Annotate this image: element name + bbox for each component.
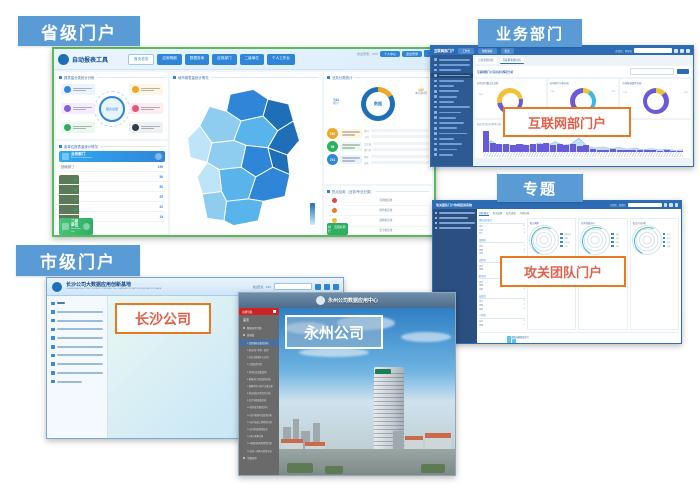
title-rule [97, 77, 165, 78]
sidebar-item-home[interactable] [49, 299, 105, 308]
province-user-center-button[interactable]: 个人中心 [380, 51, 400, 57]
sidebar-item-home[interactable]: 首页 [239, 315, 279, 324]
sidebar-menu-item[interactable]: 2.低压用户停电 - 监测 [239, 346, 279, 353]
hex-ring-graphic: 报表总量 [59, 82, 165, 136]
topic-brand: 攻关团队门户协同应用系统 [436, 203, 472, 207]
card-title: 访问终端类型分析 [622, 81, 689, 85]
province-header: 自动报表工具 首页总览 应用明细 数据查询 应用部门 二级单位 个人工作台 欢迎… [54, 49, 434, 70]
card-units-title-text: 各单位报表量统计情况 [64, 144, 98, 149]
chip-icon [132, 105, 139, 112]
donut-right-caption: 本月新增 [415, 91, 427, 95]
legend-item: 运检 [611, 237, 624, 240]
chip-icon [132, 86, 139, 93]
card-title: 访问用户分布分析 [550, 81, 617, 85]
callout-changsha-company: 长沙公司 [115, 303, 211, 334]
biz-donut-chart: 741 累计 数据 180 本月新增 [327, 82, 429, 126]
card-overview-title-text: 报表量分类统计分析 [64, 75, 95, 80]
callout-label: 攻关团队门户 [524, 262, 602, 281]
biz-col: 应用名称 [332, 223, 348, 235]
card-map-title-text: 地市报表量统计情况 [178, 75, 209, 80]
sidebar-menu-item[interactable]: 15.电费回收风险预警分析 [239, 440, 279, 447]
gear-icon[interactable] [680, 49, 684, 53]
list-item: 成果4 [479, 288, 525, 292]
province-middle-column: 地市报表量统计情况 [170, 72, 322, 234]
legend: 数据分析 建模 可视化 业务 [560, 233, 573, 248]
bar-label: 进行中 [364, 148, 371, 152]
stat-bar: 本月 [364, 129, 429, 133]
legend-item: 稽查 [663, 241, 676, 244]
province-greeting: 欢迎登录，XXX [357, 52, 378, 56]
chart-title: 各应用月度访问趋势分析 [477, 122, 501, 126]
province-nav-item[interactable]: 应用部门 [212, 54, 236, 65]
business-tabs[interactable]: 日常监测分析 互联网专题分析 [475, 57, 691, 64]
row-label: 营销部门 [61, 164, 74, 169]
hunan-map-svg [173, 82, 319, 233]
province-nav-item[interactable]: 个人工作台 [267, 54, 295, 65]
sidebar-item[interactable] [435, 212, 475, 214]
sidebar-banner: 功能导航 [239, 308, 279, 315]
section-tag-city: 市级门户 [16, 245, 140, 276]
collapse-icon[interactable] [273, 310, 277, 314]
sidebar-item-talent-org[interactable] [49, 342, 105, 351]
stat-row: 741 本年 去年 [327, 154, 429, 165]
sidebar-item-data-sharing[interactable] [49, 351, 105, 360]
donut-left-label: 741 累计 [333, 98, 339, 106]
search-icon[interactable] [315, 284, 321, 290]
changsha-subtitle: CHANGSHA ELECTRIC POWER COMPANY BIG DATA… [66, 288, 161, 290]
sidebar-item[interactable] [431, 152, 473, 157]
group-title: 安监组 [479, 294, 525, 300]
gear-icon[interactable] [669, 203, 673, 207]
radar-chart [633, 226, 661, 254]
row-value: 63 [74, 178, 78, 182]
business-header-right[interactable]: 欢迎您，管理员 [615, 48, 690, 53]
province-title: 自动报表工具 [72, 55, 108, 64]
legend-item: 业务 [560, 245, 573, 248]
sidebar-item-lab-intro[interactable] [49, 316, 105, 325]
tower-sign [375, 369, 391, 374]
header-text: 二级单位 Secondary unit [71, 220, 81, 233]
legend: 线损 停电 稽查 预警 [663, 233, 676, 248]
section-tag-province-label: 省级门户 [41, 19, 117, 44]
stat-tag [340, 129, 362, 137]
user-icon[interactable] [686, 49, 690, 53]
sidebar-menu-item[interactable]: 14.用户画像分析 [239, 433, 279, 440]
card-biz-apps: 热点应用（业务/专业分类） 排行 应用名称 营销类应用 财务类应用 运检类应用 … [324, 186, 432, 234]
donut-ring: 数据 [361, 87, 395, 121]
title-rule [376, 191, 429, 192]
stat-value: 180 [327, 128, 338, 139]
panel-title: 能力画像 [530, 221, 573, 225]
biz-name: 财务类应用 [343, 206, 429, 215]
sidebar-menu-item[interactable]: 3.全业务数据中心应用 [239, 354, 279, 361]
legend-item: 停电 [663, 237, 676, 240]
search-input[interactable] [628, 203, 662, 208]
card-map-title: 地市报表量统计情况 [173, 75, 319, 80]
donut-label: 28% [551, 91, 555, 93]
business-filter-bar[interactable]: 互联网部门户应用访问情况分析 [475, 66, 691, 77]
hunan-map[interactable] [173, 82, 319, 233]
callout-yongzhou-company: 永州公司 [285, 315, 383, 349]
row-value: 22 [159, 205, 163, 209]
province-nav-item[interactable]: 数据查询 [185, 54, 209, 65]
card-overview: 报表量分类统计分析 报表总量 [56, 72, 168, 139]
topic-user-text: 欢迎您，管理员 [610, 203, 625, 207]
province-nav-item[interactable]: 应用明细 [157, 54, 181, 65]
stat-value: 741 [327, 154, 338, 165]
group-title: 人资组 [479, 313, 525, 319]
province-right-column: 业务分类统计 741 累计 数据 180 本月新增 [324, 72, 432, 234]
building-shape [393, 431, 403, 451]
business-brand: 互联网部门户 [434, 48, 454, 53]
bar-label: 上月 [364, 135, 369, 139]
tab-internet-topic[interactable]: 互联网专题分析 [500, 57, 524, 64]
stat-bar: 上月 [364, 135, 429, 139]
list-group: 营销组 成员9 课题4 成果7 [479, 238, 525, 256]
sidebar-menu-item[interactable]: 16.负荷 - 预测与趋势分析 [239, 447, 279, 454]
province-logout-button[interactable]: 退出登录 [402, 51, 422, 57]
sidebar-menu-item[interactable]: 12.业扩报装工程物资分析 [239, 418, 279, 425]
callout-label: 长沙公司 [135, 309, 191, 329]
card-biz-title-text: 热点应用（业务/专业分类） [332, 189, 374, 194]
tab-team-overview[interactable]: 团队概况 [479, 211, 489, 216]
donut-ring [643, 88, 669, 114]
business-menu-item[interactable]: 数据看板 [478, 48, 496, 54]
tab-daily-monitor[interactable]: 日常监测分析 [475, 57, 497, 64]
chip-icon [132, 124, 139, 131]
donut-left-caption: 累计 [333, 101, 339, 105]
business-menu[interactable]: 工作台 数据看板 更多 [458, 48, 513, 54]
chip-icon [64, 86, 71, 93]
stat-bar: 本年 [364, 155, 429, 159]
topic-tabs[interactable]: 团队概况 攻关成果 任务进度 专题分析 [479, 211, 679, 216]
sidebar-menu-item[interactable]: 6.配网运行状态监测分析 [239, 375, 279, 382]
donut-label: 41% [612, 91, 616, 93]
biz-name: 运检类应用 [343, 216, 429, 225]
roof-shape [305, 442, 325, 446]
bar-label: 去年 [364, 161, 369, 165]
donut-label: 13% [623, 92, 627, 94]
changsha-logo-icon [52, 282, 62, 292]
sidebar-menu-item[interactable]: 8.低压线损异常台区分析 [239, 389, 279, 396]
more-icon[interactable] [83, 223, 90, 230]
bell-icon[interactable] [674, 49, 678, 53]
table-row: 湘潭公司39 [59, 195, 79, 205]
stat-bar: 进行中 [364, 148, 429, 152]
business-menu-item[interactable]: 工作台 [458, 48, 474, 54]
legend-item: 可视化 [560, 241, 573, 244]
user-icon[interactable] [333, 284, 339, 290]
changsha-user-text: 欢迎登录，XXX [253, 285, 271, 289]
donut-center: 数据 [366, 92, 390, 116]
period-select[interactable] [630, 68, 674, 75]
row-label: 湘潭公司 [61, 197, 74, 202]
row-label: 长沙公司 [61, 177, 74, 182]
radar-body: 线损 停电 稽查 预警 [633, 226, 676, 254]
chip-data[interactable] [61, 84, 95, 95]
biz-name: 营销类应用 [343, 196, 429, 205]
province-nav-item[interactable]: 首页总览 [128, 54, 154, 65]
stat-bar: 已完成 [364, 142, 429, 146]
dept-icon [62, 153, 69, 160]
poster-canvas: 省级门户 自动报表工具 首页总览 应用明细 数据查询 应用部门 二级单位 个人工… [0, 0, 700, 495]
business-filter-title: 互联网部门户应用访问情况分析 [477, 70, 513, 74]
stat-bar: 去年 [364, 161, 429, 165]
sidebar-item-innovation-results[interactable] [49, 334, 105, 343]
search-input[interactable] [634, 48, 672, 53]
topic-header-right[interactable]: 欢迎您，管理员 [610, 203, 678, 208]
callout-internet-dept-portal: 互联网部门户 [503, 107, 631, 137]
radar-chart [581, 226, 609, 254]
greenery-shape [421, 464, 445, 473]
chip-icon [64, 124, 71, 131]
sidebar-menu-item[interactable]: 7.配网停电与用户关联分析 [239, 382, 279, 389]
roof-shape [425, 433, 451, 438]
row-value: 38 [74, 208, 78, 212]
table-secondary-unit: 二级单位 Secondary unit 长沙公司63 株洲公司60 湘潭公司39… [59, 175, 79, 235]
tab-topic-analysis[interactable]: 专题分析 [520, 211, 530, 216]
legend-item: 财务 [611, 241, 624, 244]
province-nav[interactable]: 首页总览 应用明细 数据查询 应用部门 二级单位 个人工作台 [128, 54, 295, 65]
gear-icon[interactable] [324, 284, 330, 290]
biz-badge [327, 196, 343, 205]
section-tag-province: 省级门户 [18, 16, 140, 46]
province-user-area[interactable]: 欢迎登录，XXX 个人中心 退出登录 [357, 50, 431, 57]
chip-icon [64, 105, 71, 112]
card-stats-title-text: 业务分类统计 [332, 75, 352, 80]
bell-icon[interactable] [664, 203, 668, 207]
list-group: 团队成员统计 成员12 专家5 骨干8 [479, 218, 525, 236]
changsha-sidebar[interactable] [47, 296, 108, 439]
sidebar-sub-title[interactable]: 营销类 [239, 332, 279, 340]
business-menu-item[interactable]: 更多 [501, 48, 514, 54]
donut-label: 87% [684, 92, 688, 94]
chip-lines [141, 107, 160, 111]
stat-bars: 已完成 进行中 [364, 142, 429, 152]
radar-chart [530, 226, 558, 254]
chip-lines [73, 88, 92, 92]
panel-title: 攻关方向分析 [633, 221, 676, 225]
stat-value: 93 [327, 141, 338, 152]
query-button[interactable] [677, 69, 689, 74]
radar-body: 数据分析 建模 可视化 业务 [530, 226, 573, 254]
sidebar-group-title[interactable]: 数据应用专题 [239, 324, 279, 332]
chip-other[interactable] [129, 122, 163, 133]
card-stats: 业务分类统计 741 累计 数据 180 本月新增 [324, 72, 432, 184]
province-nav-item[interactable]: 二级单位 [240, 54, 264, 65]
list-item: 课题1 [479, 324, 525, 328]
chip-lines [73, 107, 92, 111]
header-sub: Business department [71, 157, 153, 159]
table-row: 5人资类应用 [327, 235, 429, 237]
bar-label: 本月 [364, 129, 369, 133]
sidebar-item-data-contest[interactable] [49, 360, 105, 369]
sidebar-menu-item[interactable]: 5.用电信息采集监测 [239, 368, 279, 375]
roof-shape [281, 439, 303, 443]
tab-achievements[interactable]: 攻关成果 [493, 211, 503, 216]
legend-item: 数据分析 [560, 233, 573, 236]
bar-series [507, 335, 673, 345]
changsha-header-right[interactable]: 欢迎登录，XXX [253, 283, 339, 290]
list-item: 成果3 [479, 308, 525, 312]
stat-bars: 本月 上月 [364, 129, 429, 139]
table-row: 营销部门156 [59, 162, 165, 172]
donut-terminal-type: 13% 87% [622, 86, 689, 116]
sidebar-item-key-projects[interactable] [49, 325, 105, 334]
chip-analysis[interactable] [61, 122, 95, 133]
business-user-text: 欢迎您，管理员 [615, 49, 632, 53]
stat-row: 93 已完成 进行中 [327, 141, 429, 152]
panel-title: 技术领域分布 [581, 221, 624, 225]
row-value: 56 [159, 175, 163, 179]
unit-tables: 业务部门 Business department 营销部门156 客服中心56 … [59, 151, 165, 222]
row-value: 50 [159, 185, 163, 189]
greenery-shape [287, 463, 313, 473]
title-rule [354, 77, 429, 78]
radar-body: 营销 运检 财务 安监 [581, 226, 624, 254]
more-icon[interactable] [155, 153, 162, 160]
legend-item: 安监 [611, 245, 624, 248]
cloud-shape [401, 332, 451, 342]
legend-item: 线损 [663, 233, 676, 236]
title-rule [100, 146, 165, 147]
sidebar-menu-item[interactable]: 13.业务档案质量核查 [239, 425, 279, 432]
section-tag-city-label: 市级门户 [40, 248, 116, 273]
chart-topic-ranking: 攻关课题成果数量排行 [479, 332, 679, 345]
card-map: 地市报表量统计情况 [170, 72, 322, 236]
donut-label: 34% [479, 94, 483, 96]
window-province-portal[interactable]: 自动报表工具 首页总览 应用明细 数据查询 应用部门 二级单位 个人工作台 欢迎… [52, 47, 436, 237]
bar-label: 已完成 [364, 142, 371, 146]
group-title: 团队成员统计 [479, 218, 525, 224]
topic-header: 攻关团队门户协同应用系统 欢迎您，管理员 [433, 201, 681, 209]
biz-badge [327, 206, 343, 215]
chip-report[interactable] [61, 103, 95, 114]
legend-item: 建模 [560, 237, 573, 240]
yongzhou-sidebar[interactable]: 功能导航 首页 数据应用专题 营销类 1.台区线损日监控分析 2.低压用户停电 … [239, 308, 279, 475]
legend-item: 营销 [611, 233, 624, 236]
stat-row: 180 本月 上月 [327, 128, 429, 139]
sidebar-item-base-overview[interactable] [49, 308, 105, 317]
callout-label: 永州公司 [304, 322, 364, 343]
stat-bars: 本年 去年 [364, 155, 429, 165]
section-tag-topic: 专题 [497, 174, 583, 202]
chip-market[interactable] [129, 84, 163, 95]
biz-name: 人资类应用 [343, 235, 429, 237]
row-label: 株洲公司 [61, 187, 74, 192]
chip-lines [141, 126, 160, 130]
header-sub: Secondary unit [71, 228, 81, 233]
row-label: 衡阳公司 [61, 207, 74, 212]
legend: 营销 运检 财务 安监 [611, 233, 624, 248]
sidebar-menu-item[interactable]: 4.计量装置异常 [239, 361, 279, 368]
greenery-shape [325, 466, 343, 474]
table-row: 株洲公司60 [59, 185, 79, 195]
section-tag-topic-label: 专题 [523, 178, 557, 199]
ring-core: 报表总量 [99, 96, 125, 122]
sidebar-item-release-meeting[interactable] [49, 369, 105, 378]
card-stats-title: 业务分类统计 [327, 75, 429, 80]
card-overview-title: 报表量分类统计分析 [59, 75, 165, 80]
building-icon [62, 223, 69, 230]
list-group: 人资组 成员3 课题1 [479, 313, 525, 327]
yongzhou-header: 永州公司数据应用中心 [239, 293, 455, 308]
list-item: 骨干8 [479, 232, 525, 236]
row-value: 15 [159, 215, 163, 219]
radar-direction: 攻关方向分析 线损 停电 稽查 预警 [630, 218, 679, 330]
sidebar-footer-group[interactable]: 专题应用 [239, 454, 279, 462]
sidebar-banner-label: 功能导航 [242, 310, 252, 314]
table-row: 营销类应用 [327, 196, 429, 206]
sidebar-item[interactable] [435, 222, 475, 224]
biz-name: 安全类应用 [343, 227, 429, 234]
section-tag-business-label: 业务部门 [496, 23, 564, 44]
chip-service[interactable] [129, 103, 163, 114]
province-left-column: 报表量分类统计分析 报表总量 [56, 72, 168, 234]
row-value: 156 [158, 165, 163, 169]
table-business-dept-header: 业务部门 Business department [59, 151, 165, 162]
biz-table-header: 排行 应用名称 [327, 223, 348, 235]
sidebar-menu-item[interactable]: 10.营销业务稽查分析 [239, 404, 279, 411]
map-legend-gradient [310, 203, 315, 225]
user-icon[interactable] [675, 203, 679, 207]
chip-lines [73, 126, 92, 130]
list-group: 安监组 成员4 课题2 成果3 [479, 294, 525, 312]
yongzhou-logo-icon [316, 296, 325, 305]
sidebar-menu-item[interactable]: 11.业扩报装时长监测分析 [239, 411, 279, 418]
search-input[interactable] [274, 283, 312, 290]
donut-right-label: 180 本月新增 [415, 88, 427, 96]
business-sidebar[interactable] [431, 55, 473, 166]
card-title: 应用访问量占比分析 [477, 81, 544, 85]
card-units-title: 各单位报表量统计情况 [59, 144, 165, 149]
yongzhou-title: 永州公司数据应用中心 [328, 297, 378, 304]
card-biz-title: 热点应用（业务/专业分类） [327, 189, 429, 194]
callout-label: 互联网部门户 [528, 113, 606, 132]
biz-number: 5 [327, 235, 343, 237]
sidebar-menu-item[interactable]: 9.综合电能质量分析 [239, 397, 279, 404]
business-header: 互联网部门户 工作台 数据看板 更多 欢迎您，管理员 [431, 46, 693, 55]
table-row: 财务类应用 [327, 206, 429, 216]
header-title: 二级单位 [71, 220, 81, 228]
province-logo-icon [58, 54, 69, 65]
sidebar-menu-item[interactable]: 1.台区线损日监控分析 [239, 339, 279, 346]
sidebar-item[interactable] [435, 217, 475, 219]
table-secondary-unit-header: 二级单位 Secondary unit [59, 218, 93, 235]
tab-progress[interactable]: 任务进度 [506, 211, 516, 216]
callout-task-force-portal: 攻关团队门户 [500, 256, 626, 287]
row-value: 39 [74, 198, 78, 202]
card-units: 各单位报表量统计情况 业务部门 Business department [56, 141, 168, 234]
legend-item: 预警 [663, 245, 676, 248]
stat-tag [340, 155, 362, 163]
section-tag-business: 业务部门 [478, 19, 582, 47]
bar-label: 本年 [364, 155, 369, 159]
header-text: 业务部门 Business department [71, 153, 153, 159]
table-row: 衡阳公司38 [59, 205, 79, 215]
sidebar-item-contact[interactable] [49, 377, 105, 386]
cloud-shape [299, 348, 369, 357]
province-body: 报表量分类统计分析 报表总量 [54, 70, 434, 236]
group-title: 营销组 [479, 238, 525, 244]
roof-shape [405, 436, 423, 440]
title-rule [211, 77, 319, 78]
changsha-title-block: 长沙公司大数据应用创新基地 CHANGSHA ELECTRIC POWER CO… [66, 283, 161, 291]
x-axis-labels [483, 152, 683, 157]
sidebar-item[interactable] [435, 227, 475, 229]
window-business-portal[interactable]: 互联网部门户 工作台 数据看板 更多 欢迎您，管理员 [430, 45, 694, 167]
chip-lines [141, 88, 160, 92]
